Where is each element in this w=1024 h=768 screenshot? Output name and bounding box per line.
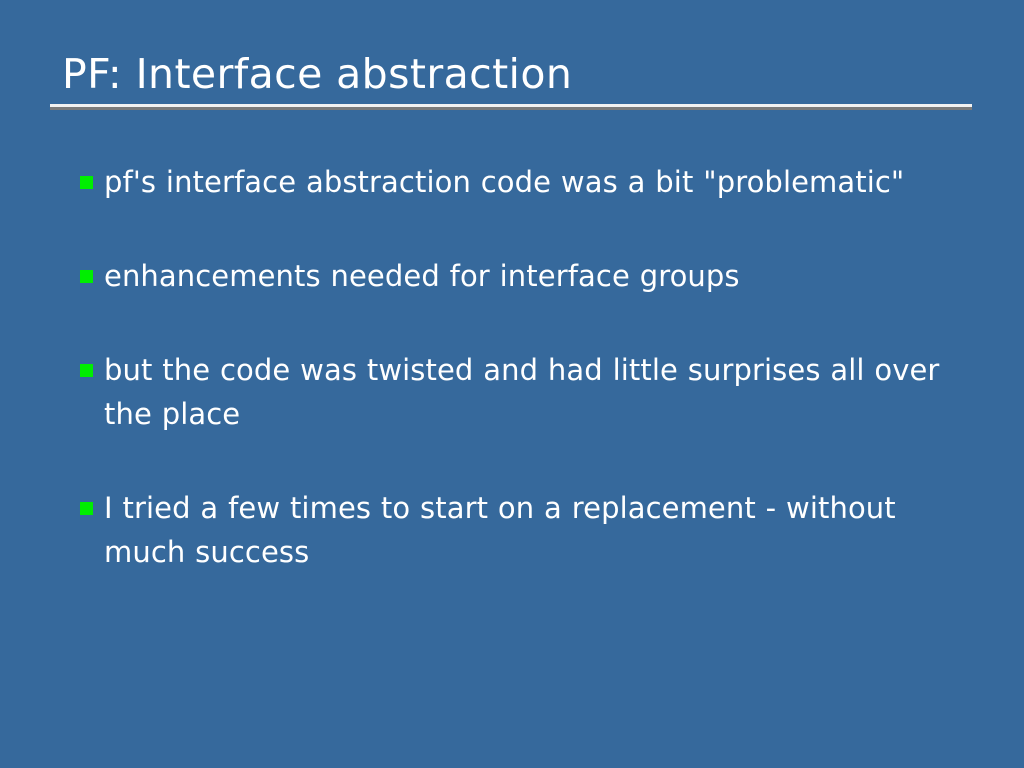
slide-title-block: PF: Interface abstraction: [50, 48, 974, 100]
presentation-slide: PF: Interface abstraction pf's interface…: [0, 0, 1024, 768]
title-divider: [50, 104, 972, 110]
page-title: PF: Interface abstraction: [50, 48, 974, 100]
square-bullet-icon: [80, 502, 93, 515]
list-item-text: but the code was twisted and had little …: [104, 348, 970, 436]
title-divider-shadow: [50, 107, 972, 110]
list-item: I tried a few times to start on a replac…: [80, 486, 970, 574]
square-bullet-icon: [80, 176, 93, 189]
square-bullet-icon: [80, 364, 93, 377]
list-item-text: pf's interface abstraction code was a bi…: [104, 160, 970, 204]
list-item-text: I tried a few times to start on a replac…: [104, 486, 970, 574]
list-item: enhancements needed for interface groups: [80, 254, 970, 298]
slide-body: pf's interface abstraction code was a bi…: [80, 160, 970, 574]
list-item: but the code was twisted and had little …: [80, 348, 970, 436]
square-bullet-icon: [80, 270, 93, 283]
list-item: pf's interface abstraction code was a bi…: [80, 160, 970, 204]
list-item-text: enhancements needed for interface groups: [104, 254, 970, 298]
